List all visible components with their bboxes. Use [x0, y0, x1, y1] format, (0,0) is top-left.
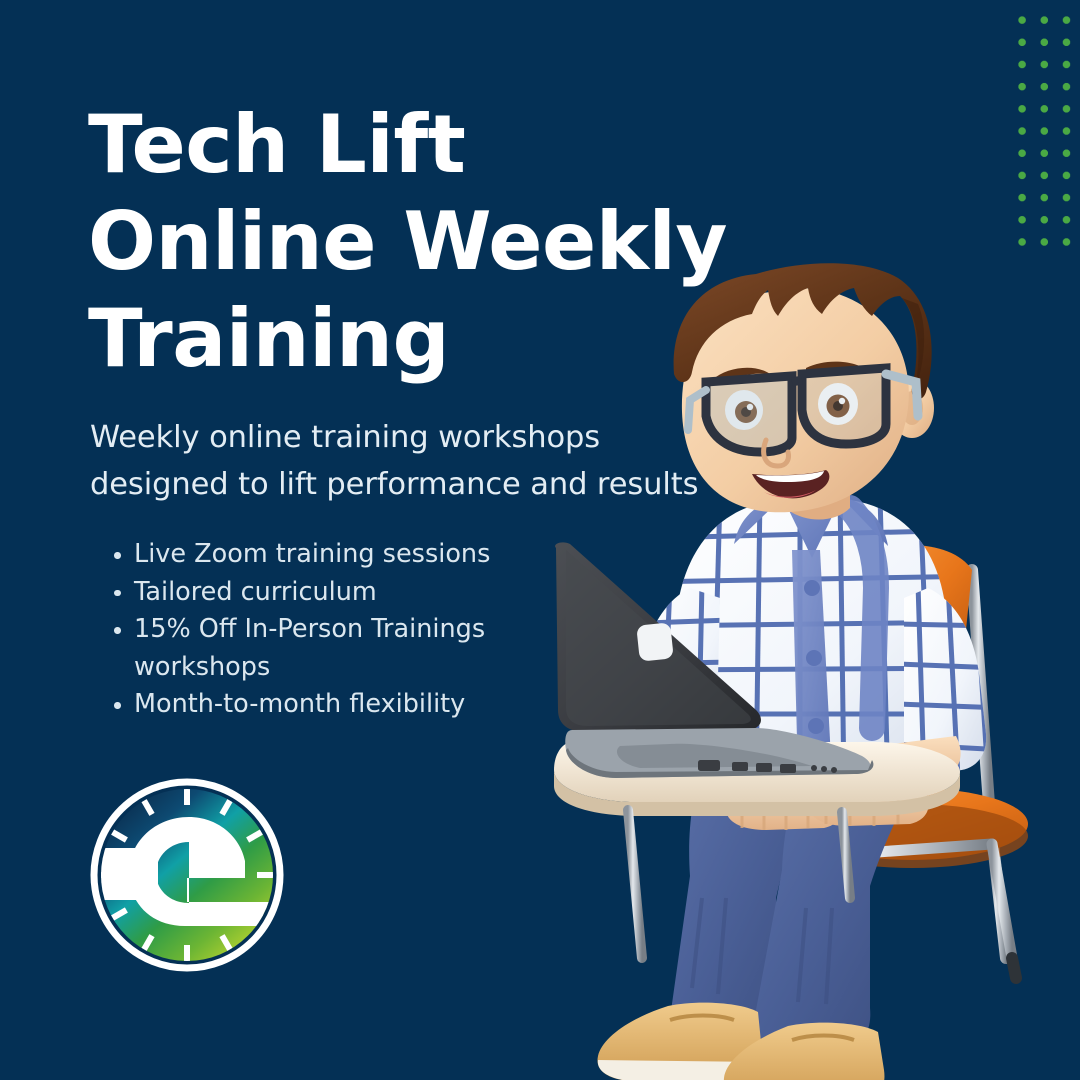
list-item: 15% Off In-Person Trainings workshops	[134, 611, 534, 686]
list-item: Live Zoom training sessions	[134, 536, 534, 574]
poster-canvas: Tech Lift Online Weekly Training Weekly …	[0, 0, 1080, 1080]
list-item: Month-to-month flexibility	[134, 686, 534, 724]
headline-line-2: Online Weekly	[88, 193, 808, 290]
subtitle-line-2: designed to lift performance and results	[90, 461, 780, 508]
subtitle-line-1: Weekly online training workshops	[90, 414, 780, 461]
page-subtitle: Weekly online training workshops designe…	[90, 414, 780, 508]
feature-list: Live Zoom training sessions Tailored cur…	[108, 536, 534, 724]
brand-logo	[88, 776, 286, 974]
list-item: Tailored curriculum	[134, 574, 534, 612]
headline-line-3: Training	[88, 290, 808, 387]
headline-line-1: Tech Lift	[88, 96, 808, 193]
page-title: Tech Lift Online Weekly Training	[88, 96, 808, 387]
green-dot-grid-decoration	[1011, 9, 1080, 257]
